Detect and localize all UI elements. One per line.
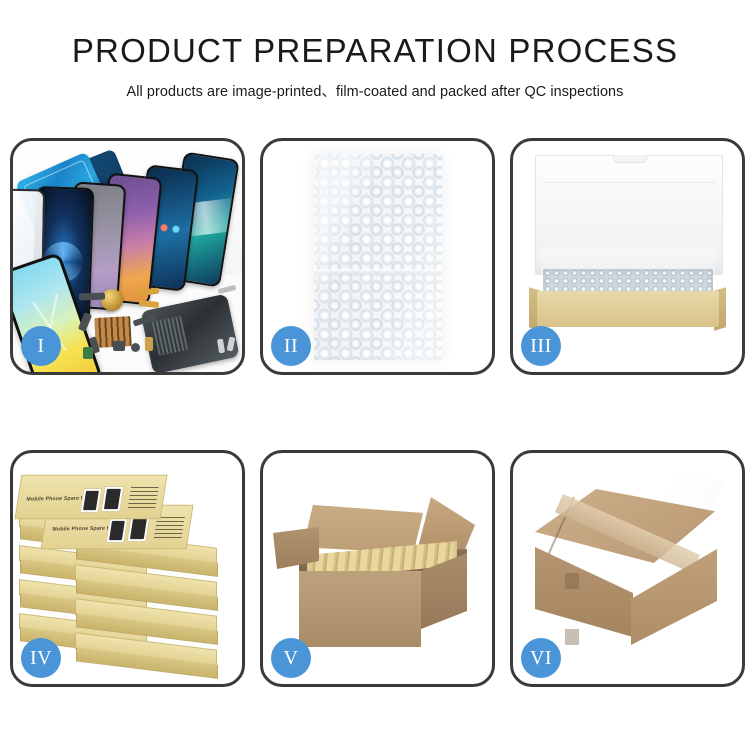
retail-box-top-1: Mobile Phone Spare Parts <box>14 475 167 520</box>
lid-notch <box>613 155 647 163</box>
small-part-5 <box>131 343 140 352</box>
box-window-screen <box>109 521 125 540</box>
page-subtitle: All products are image-printed、film-coat… <box>0 80 750 101</box>
carton-flap-tab-upper <box>565 573 579 589</box>
step-panel-1: I <box>10 138 245 375</box>
carton-flap-back <box>303 505 423 553</box>
step-badge-1: I <box>21 326 61 366</box>
inner-box-front-panel <box>537 291 719 327</box>
small-part-6 <box>145 337 153 351</box>
step-badge-3: III <box>521 326 561 366</box>
process-steps-grid: I II III <box>10 138 740 687</box>
step-panel-4: Mobile Phone Spare Parts Mobile Phone Sp… <box>10 450 245 687</box>
tool-tweezers <box>218 285 237 294</box>
box-window-a <box>80 488 103 513</box>
small-part-1 <box>79 293 105 301</box>
box-side <box>76 647 218 678</box>
carton-front-face <box>299 571 421 647</box>
bubble-wrap-sheet <box>314 154 442 360</box>
step-panel-3: III <box>510 138 745 375</box>
step-panel-5: V <box>260 450 495 687</box>
step-panel-2: II <box>260 138 495 375</box>
box-window-c <box>106 518 129 543</box>
step-panel-6: VI <box>510 450 745 687</box>
sealed-carton-left-face <box>535 541 633 637</box>
box-window-screen <box>104 489 121 509</box>
step-badge-5: V <box>271 638 311 678</box>
box-window-b <box>101 486 125 512</box>
box-window-screen <box>83 491 99 510</box>
sim-tray-part <box>83 347 93 359</box>
step-badge-6: VI <box>521 638 561 678</box>
step-badge-2: II <box>271 326 311 366</box>
box-window-screen <box>130 519 147 539</box>
plastic-sheen <box>314 154 442 360</box>
page-header: PRODUCT PREPARATION PROCESS All products… <box>0 0 750 101</box>
box-spec-lines-1 <box>128 486 159 508</box>
step-badge-4: IV <box>21 638 61 678</box>
small-part-4 <box>113 341 125 351</box>
page-title: PRODUCT PREPARATION PROCESS <box>0 34 750 67</box>
box-window-d <box>127 516 151 542</box>
flex-cable-2 <box>139 300 160 308</box>
carton-flap-tab-lower <box>565 629 579 645</box>
